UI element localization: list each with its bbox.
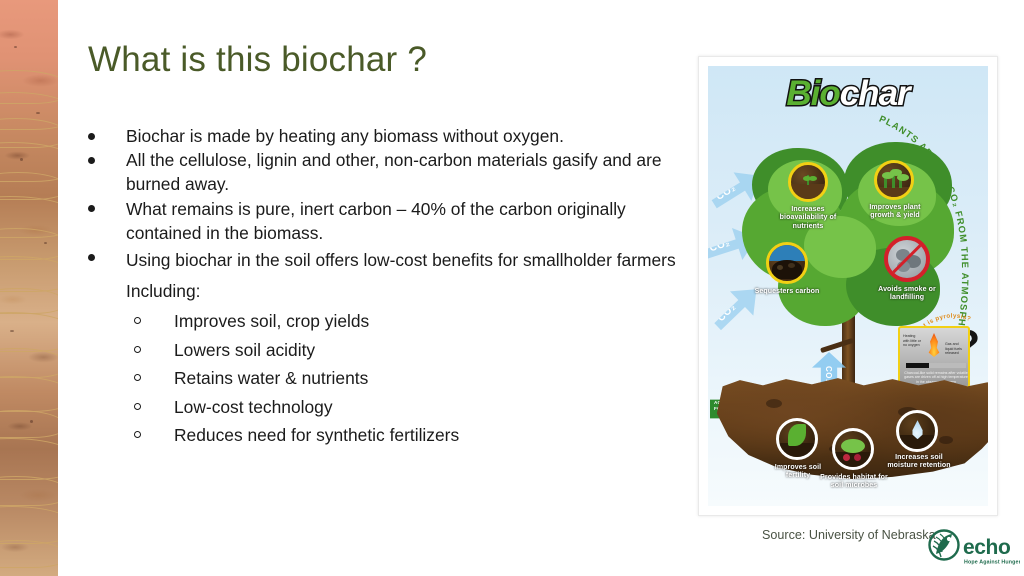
hollow-bullet-marker-icon	[134, 346, 141, 353]
sub-bullet-list: Improves soil, crop yields Lowers soil a…	[84, 307, 684, 450]
list-item: Biochar is made by heating any biomass w…	[84, 124, 684, 148]
bullet-list: Biochar is made by heating any biomass w…	[84, 124, 684, 450]
list-item-label: Retains water & nutrients	[174, 368, 368, 388]
hollow-bullet-marker-icon	[134, 317, 141, 324]
page-title: What is this biochar ?	[88, 40, 427, 80]
no-smoke-icon	[884, 236, 930, 282]
fire-box-left-note: Heating with little or no oxygen	[903, 334, 921, 348]
bullet-marker-icon	[88, 133, 95, 140]
co2-arrow-label: CO₂	[708, 237, 731, 254]
contour-line	[0, 312, 58, 352]
soil-speck	[20, 158, 23, 161]
biochar-infographic-image: Biochar CO₂ CO₂ CO₂ PLANTS ABSORB CO₂ FR…	[708, 66, 988, 506]
contour-line	[0, 506, 58, 544]
echo-emblem-icon	[930, 531, 959, 560]
list-item: What remains is pure, inert carbon – 40%…	[84, 197, 684, 245]
flame-icon	[927, 333, 941, 357]
soil-speck	[10, 330, 14, 332]
hollow-bullet-marker-icon	[134, 431, 141, 438]
list-item-label: Low-cost technology	[174, 397, 333, 417]
contour-line	[0, 476, 58, 506]
microbes-icon	[832, 428, 874, 470]
contour-line	[0, 438, 58, 480]
plants-growth-icon	[874, 160, 914, 200]
list-item: Reduces need for synthetic fertilizers	[84, 421, 684, 450]
soil-speck	[30, 420, 33, 423]
fire-box-bar	[906, 363, 966, 368]
carbon-pile-icon	[766, 242, 808, 284]
soil-speck	[36, 112, 40, 114]
soil-speck	[14, 46, 17, 48]
co2-arrow: CO₂	[708, 275, 770, 341]
bullet-marker-icon	[88, 254, 95, 261]
fire-box-right-note: Gas and liquid fuels released	[945, 342, 965, 356]
echo-logo-svg: echo Hope Against Hunger	[928, 528, 1020, 570]
list-item-label: Using biochar in the soil offers low-cos…	[126, 250, 676, 301]
echo-tagline: Hope Against Hunger	[964, 560, 1020, 566]
hollow-bullet-marker-icon	[134, 374, 141, 381]
bullet-marker-icon	[88, 157, 95, 164]
list-item: All the cellulose, lignin and other, non…	[84, 148, 684, 196]
leaf-soil-icon	[776, 418, 818, 460]
soil-speck	[44, 242, 47, 244]
list-item-label: What remains is pure, inert carbon – 40%…	[126, 199, 626, 243]
badge-label: Sequesters carbon	[750, 288, 824, 296]
decorative-soil-stripe	[0, 0, 58, 576]
wordmark-bio: Bio	[786, 74, 839, 113]
soil-clod	[766, 399, 782, 408]
list-item-label: Lowers soil acidity	[174, 340, 315, 360]
contour-line	[0, 410, 58, 438]
list-item: Improves soil, crop yields	[84, 307, 684, 336]
source-caption: Source: University of Nebraska	[762, 528, 936, 542]
bullet-marker-icon	[88, 205, 95, 212]
list-item-label: Improves soil, crop yields	[174, 311, 369, 331]
list-item: Low-cost technology	[84, 393, 684, 422]
infographic-frame[interactable]: Biochar CO₂ CO₂ CO₂ PLANTS ABSORB CO₂ FR…	[698, 56, 998, 516]
contour-line	[0, 288, 58, 314]
contour-line	[0, 348, 58, 378]
echo-wordmark: echo	[963, 536, 1010, 559]
badge-label: Increases soil moisture retention	[886, 454, 952, 471]
list-item: Lowers soil acidity	[84, 336, 684, 365]
water-drop-icon	[896, 410, 938, 452]
echo-logo: echo Hope Against Hunger	[928, 528, 1020, 570]
badge-label: Avoids smoke or landfilling	[868, 286, 946, 303]
contour-line	[0, 256, 58, 292]
badge-label: Provides habitat for soil microbes	[818, 474, 890, 491]
seedling-soil-icon	[788, 162, 828, 202]
list-item-label: Reduces need for synthetic fertilizers	[174, 425, 459, 445]
co2-arrow-label: CO₂	[714, 182, 738, 202]
list-item: Using biochar in the soil offers low-cos…	[84, 245, 684, 307]
pyrolysis-detail-box: Heating with little or no oxygen Gas and…	[898, 326, 970, 388]
list-item-label: All the cellulose, lignin and other, non…	[126, 150, 662, 194]
list-item: Retains water & nutrients	[84, 364, 684, 393]
badge-label: Increases bioavailability of nutrients	[770, 206, 846, 231]
soil-clod	[939, 436, 953, 444]
contour-line	[0, 540, 58, 568]
badge-label: Improves plant growth & yield	[858, 204, 932, 221]
contour-line	[0, 376, 58, 412]
hollow-bullet-marker-icon	[134, 403, 141, 410]
co2-arrow-label: CO₂	[716, 302, 739, 324]
list-item-label: Biochar is made by heating any biomass w…	[126, 126, 564, 146]
